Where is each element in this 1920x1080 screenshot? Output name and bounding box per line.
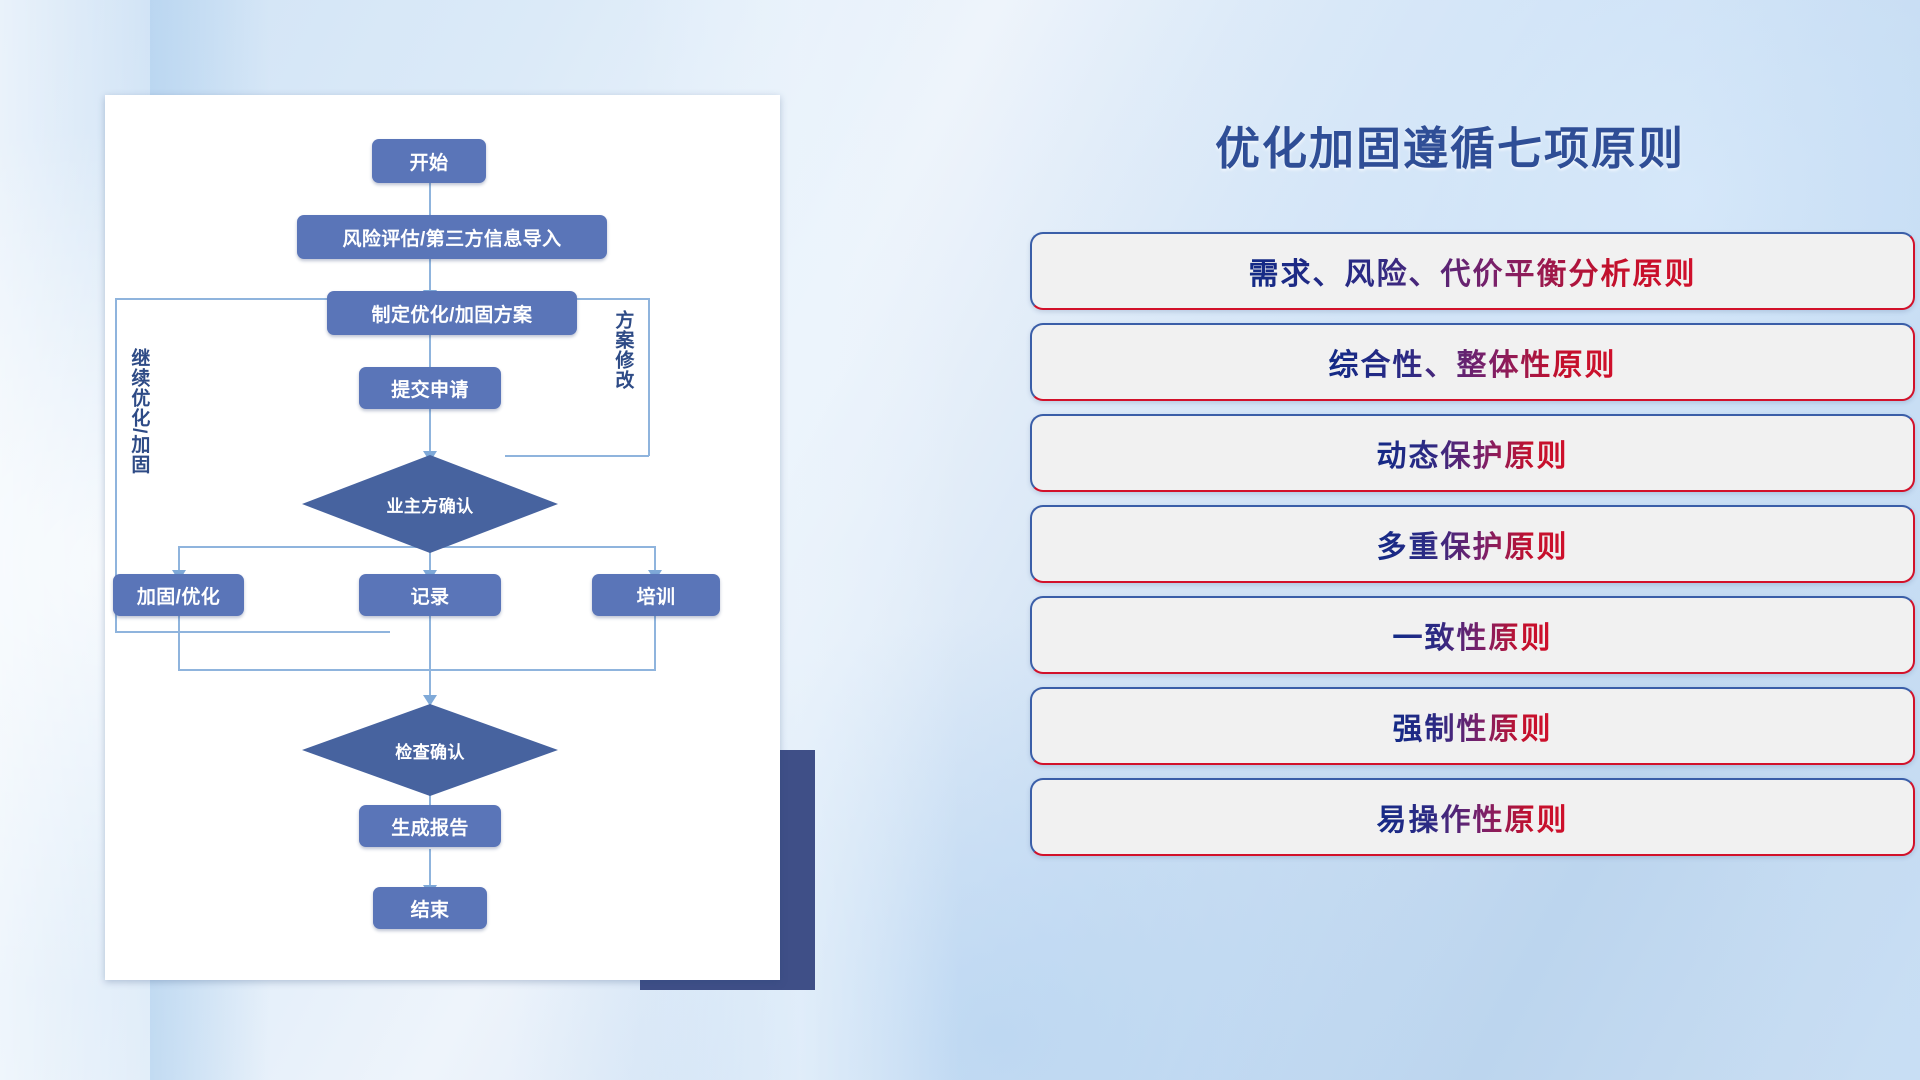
connector-right-loop-vertical xyxy=(648,298,650,456)
connector-record-down xyxy=(429,616,431,702)
flow-node-end[interactable]: 结束 xyxy=(373,887,487,929)
flow-node-report[interactable]: 生成报告 xyxy=(359,805,501,847)
flow-node-plan[interactable]: 制定优化/加固方案 xyxy=(327,291,577,335)
principles-panel: 优化加固遵循七项原则 需求、风险、代价平衡分析原则 综合性、整体性原则 动态保护… xyxy=(1010,0,1920,1080)
flow-node-reinforce[interactable]: 加固/优化 xyxy=(113,574,244,616)
flow-node-check-confirm[interactable]: 检查确认 xyxy=(302,704,558,796)
flow-node-start[interactable]: 开始 xyxy=(372,139,486,183)
principles-card-list: 需求、风险、代价平衡分析原则 综合性、整体性原则 动态保护原则 多重保护原则 一… xyxy=(1030,232,1915,869)
flow-node-risk-assessment[interactable]: 风险评估/第三方信息导入 xyxy=(297,215,607,259)
principle-card-1[interactable]: 需求、风险、代价平衡分析原则 xyxy=(1030,232,1915,310)
principle-card-2[interactable]: 综合性、整体性原则 xyxy=(1030,323,1915,401)
flow-node-risk-assessment-label: 风险评估/第三方信息导入 xyxy=(342,224,561,251)
principle-card-6-label: 强制性原则 xyxy=(1393,704,1553,748)
principle-card-6[interactable]: 强制性原则 xyxy=(1030,687,1915,765)
flow-node-start-label: 开始 xyxy=(410,148,449,175)
principle-card-5-label: 一致性原则 xyxy=(1393,613,1553,657)
flow-node-report-label: 生成报告 xyxy=(391,813,469,840)
flow-node-end-label: 结束 xyxy=(411,895,450,922)
principles-heading: 优化加固遵循七项原则 xyxy=(1010,112,1890,177)
connector-training-down xyxy=(654,616,656,669)
connector-left-loop-top xyxy=(115,298,345,300)
flow-node-submit-label: 提交申请 xyxy=(391,375,469,402)
connector-reinforce-down xyxy=(178,616,180,669)
principle-card-3[interactable]: 动态保护原则 xyxy=(1030,414,1915,492)
flow-node-record[interactable]: 记录 xyxy=(359,574,501,616)
flowchart-card: 开始 风险评估/第三方信息导入 制定优化/加固方案 提交申请 业主方确认 加固/… xyxy=(105,95,780,980)
flow-edge-label-left-loop: 继续优化/加固 xyxy=(129,348,148,474)
flow-node-reinforce-label: 加固/优化 xyxy=(137,582,220,609)
principle-card-5[interactable]: 一致性原则 xyxy=(1030,596,1915,674)
flow-node-training[interactable]: 培训 xyxy=(592,574,720,616)
flow-node-owner-confirm[interactable]: 业主方确认 xyxy=(302,455,558,553)
connector-submit-owner xyxy=(429,403,431,455)
principle-card-7-label: 易操作性原则 xyxy=(1377,795,1569,839)
principle-card-4-label: 多重保护原则 xyxy=(1377,522,1569,566)
flowchart-canvas: 开始 风险评估/第三方信息导入 制定优化/加固方案 提交申请 业主方确认 加固/… xyxy=(105,95,780,980)
flow-edge-label-right-loop: 方案修改 xyxy=(613,310,632,390)
connector-report-end xyxy=(429,849,431,889)
flow-node-check-confirm-label: 检查确认 xyxy=(395,738,465,763)
connector-left-loop-bottom xyxy=(115,631,390,633)
principle-card-7[interactable]: 易操作性原则 xyxy=(1030,778,1915,856)
principle-card-4[interactable]: 多重保护原则 xyxy=(1030,505,1915,583)
connector-merge-bus xyxy=(178,669,656,671)
flow-node-record-label: 记录 xyxy=(411,582,450,609)
flow-node-submit[interactable]: 提交申请 xyxy=(359,367,501,409)
connector-right-loop-bottom xyxy=(505,455,649,457)
flow-node-owner-confirm-label: 业主方确认 xyxy=(387,492,474,517)
flow-node-plan-label: 制定优化/加固方案 xyxy=(372,300,533,327)
principle-card-2-label: 综合性、整体性原则 xyxy=(1329,340,1617,384)
principle-card-1-label: 需求、风险、代价平衡分析原则 xyxy=(1249,249,1697,293)
flow-node-training-label: 培训 xyxy=(637,582,676,609)
principle-card-3-label: 动态保护原则 xyxy=(1377,431,1569,475)
